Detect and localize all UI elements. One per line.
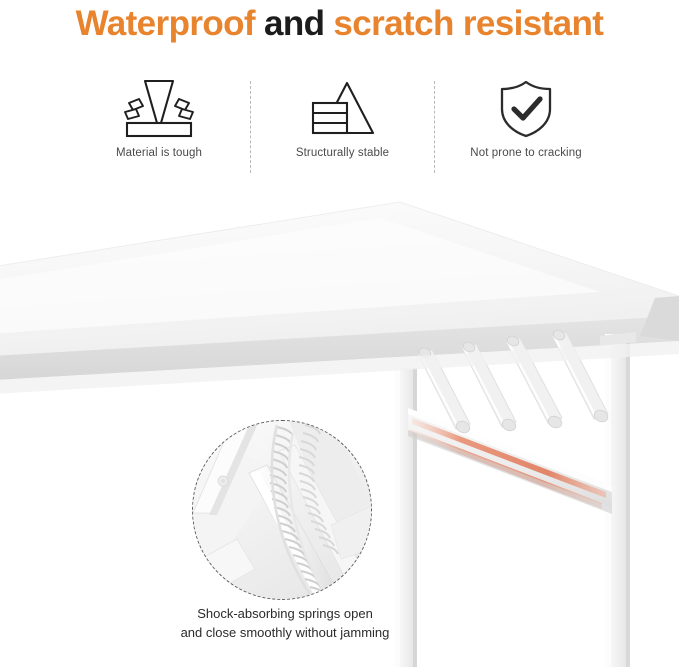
feature-divider-2 xyxy=(434,81,435,173)
feature-label: Not prone to cracking xyxy=(470,147,581,159)
feature-item-material-tough: Material is tough xyxy=(70,78,248,178)
headline-part-waterproof: Waterproof xyxy=(76,4,255,43)
headline-part-scratch-resistant: scratch resistant xyxy=(333,4,603,43)
impact-wedge-icon xyxy=(111,78,207,140)
page-title: Waterproofandscratch resistant xyxy=(0,2,679,46)
magnifier-caption: Shock-absorbing springs open and close s… xyxy=(115,604,455,642)
shield-check-icon xyxy=(478,78,574,140)
feature-item-structurally-stable: Structurally stable xyxy=(254,78,432,178)
headline-part-and: and xyxy=(264,4,324,43)
feature-label: Material is tough xyxy=(116,147,202,159)
feature-divider-1 xyxy=(250,81,251,173)
caption-line-1: Shock-absorbing springs open xyxy=(115,604,455,623)
feature-list: Material is tough Structurally stable xyxy=(70,78,615,178)
product-feature-banner: Waterproofandscratch resistant xyxy=(0,0,679,667)
product-photo-folding-desk xyxy=(0,186,679,667)
feature-item-not-prone-cracking: Not prone to cracking xyxy=(437,78,615,178)
spring-detail-zoom xyxy=(192,420,372,600)
caption-line-2: and close smoothly without jamming xyxy=(115,623,455,642)
triangle-stacked-blocks-icon xyxy=(295,78,391,140)
feature-label: Structurally stable xyxy=(296,147,389,159)
